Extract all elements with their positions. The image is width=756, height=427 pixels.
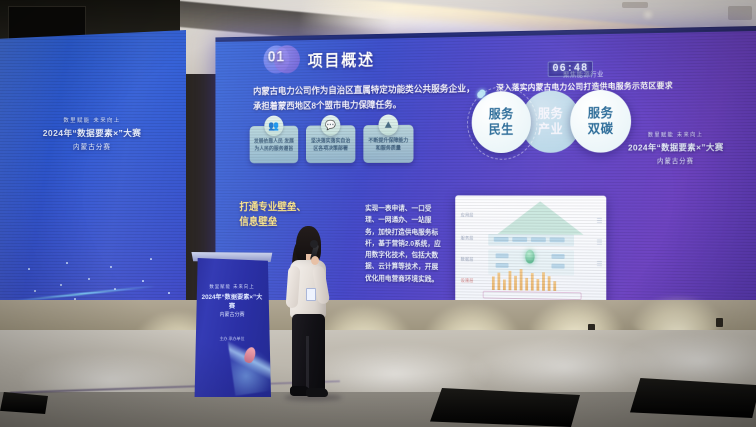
diagram-side-icon: ☰ xyxy=(596,217,602,225)
section-number-badge: 01 xyxy=(263,45,298,74)
screen-banner-right: 数里赋能 未来向上 2024年“数据要素×”大赛 内蒙古分赛 xyxy=(608,130,744,165)
podium-line2: 2024年“数据要素×”大赛 xyxy=(199,292,265,310)
pyramid-chip xyxy=(496,253,509,258)
banner-left-line3: 内蒙古分赛 xyxy=(12,141,172,151)
pyramid-chip xyxy=(551,254,564,259)
banner-right-line3: 内蒙古分赛 xyxy=(608,155,744,165)
uplight-fixture xyxy=(716,318,723,327)
banner-left-line2: 2024年“数据要素×”大赛 xyxy=(12,127,172,139)
pyramid-tier-label: 数据层 xyxy=(461,257,474,263)
mini-card-text: 坚决落实落实自治区各项决策部署 xyxy=(310,138,352,154)
diagram-side-icon: ☰ xyxy=(596,239,602,247)
led-screen-left-panel: 数里赋能 未来向上 2024年“数据要素×”大赛 内蒙古分赛 xyxy=(0,30,186,322)
countdown-timer: 06:48 xyxy=(548,61,593,77)
presenter-hand xyxy=(311,256,319,265)
tower-icon: ⛰ xyxy=(378,114,398,135)
ceiling-vent xyxy=(622,2,648,8)
banner-left-line1: 数里赋能 未来向上 xyxy=(12,116,172,124)
pyramid-chip xyxy=(512,237,527,242)
service-circle-line1: 服务 xyxy=(538,106,563,122)
pyramid-core-icon xyxy=(525,250,534,264)
stage-monitor xyxy=(630,378,756,418)
podium-line3: 内蒙古分赛 xyxy=(199,311,265,318)
presenter-shoe-right xyxy=(306,388,328,397)
pyramid-chip xyxy=(550,237,565,242)
architecture-diagram-card: 应用层 服务层 数据层 设施层 ☰ ☰ ☰ xyxy=(455,195,606,305)
diagram-side-icon: ☰ xyxy=(596,260,602,268)
microphone-head-icon xyxy=(310,240,318,248)
service-circle-shuangtan: 服务 双碳 xyxy=(570,90,631,153)
detail-paragraph: 实现一表申请、一口受理、一网通办、一站服务，加快打造供电服务标杆，基于营销2.0… xyxy=(365,203,442,286)
section-number: 01 xyxy=(268,49,294,70)
presenter-leg-gap xyxy=(306,336,309,388)
banner-right-line2: 2024年“数据要素×”大赛 xyxy=(608,141,744,153)
service-circle-line1: 服务 xyxy=(588,106,614,122)
mini-card-group: 👥 发展依靠人民 发展为人民的服务遵旨 💬 坚决落实落实自治区各项决策部署 ⛰ … xyxy=(250,125,414,164)
conference-hall-photo: 01 项目概述 内蒙古电力公司作为自治区直属特定功能类公共服务企业，承担着蒙西地… xyxy=(0,0,756,427)
slide-title: 项目概述 xyxy=(308,46,375,71)
circle-dot-icon xyxy=(477,91,483,98)
pyramid-chip xyxy=(496,263,509,268)
pyramid-chip xyxy=(531,237,546,242)
highlight-line-1: 打通专业壁垒、 xyxy=(239,201,352,216)
screen-sheen xyxy=(0,30,186,322)
pyramid-chip xyxy=(551,264,564,269)
mini-card: ⛰ 不断提升保障能力和服务质量 xyxy=(363,125,413,163)
screen-scanlines xyxy=(0,30,186,322)
mini-card-text: 不断提升保障能力和服务质量 xyxy=(367,137,410,153)
ceiling-vent xyxy=(728,6,752,20)
pyramid-bar-group xyxy=(492,269,556,291)
slide-section-header: 01 项目概述 xyxy=(263,44,374,74)
service-circle-group: 服务 民生 服务 产业 服务 双碳 xyxy=(472,90,631,154)
podium: 数里赋能 未来向上 2024年“数据要素×”大赛 内蒙古分赛 主办 承办单位 xyxy=(193,258,271,397)
ceiling-spot xyxy=(640,10,656,20)
podium-line1: 数里赋能 未来向上 xyxy=(199,284,265,290)
chat-icon: 💬 xyxy=(321,115,340,136)
intro-paragraph: 内蒙古电力公司作为自治区直属特定功能类公共服务企业，承担着蒙西地区8个盟市电力保… xyxy=(253,82,475,114)
people-icon: 👥 xyxy=(264,116,283,137)
pyramid-base-label-box xyxy=(483,291,582,300)
pyramid-tier-label: 应用层 xyxy=(461,213,474,219)
mini-card-text: 发展依靠人民 发展为人民的服务遵旨 xyxy=(253,138,295,154)
presenter xyxy=(282,226,338,398)
service-circle-line2: 产业 xyxy=(538,122,563,138)
pyramid-apex-icon xyxy=(497,201,583,234)
pyramid-chip xyxy=(494,237,509,242)
mini-card: 💬 坚决落实落实自治区各项决策部署 xyxy=(306,125,355,163)
mini-card: 👥 发展依靠人民 发展为人民的服务遵旨 xyxy=(250,126,299,164)
presenter-id-badge xyxy=(306,288,316,301)
pyramid-tier-label: 服务层 xyxy=(461,236,474,242)
service-circle-minsheng: 服务 民生 xyxy=(472,91,531,153)
pyramid-tier-label: 设施层 xyxy=(461,278,474,284)
screen-banner-left: 数里赋能 未来向上 2024年“数据要素×”大赛 内蒙古分赛 xyxy=(12,116,172,151)
service-circle-line2: 双碳 xyxy=(588,121,614,137)
